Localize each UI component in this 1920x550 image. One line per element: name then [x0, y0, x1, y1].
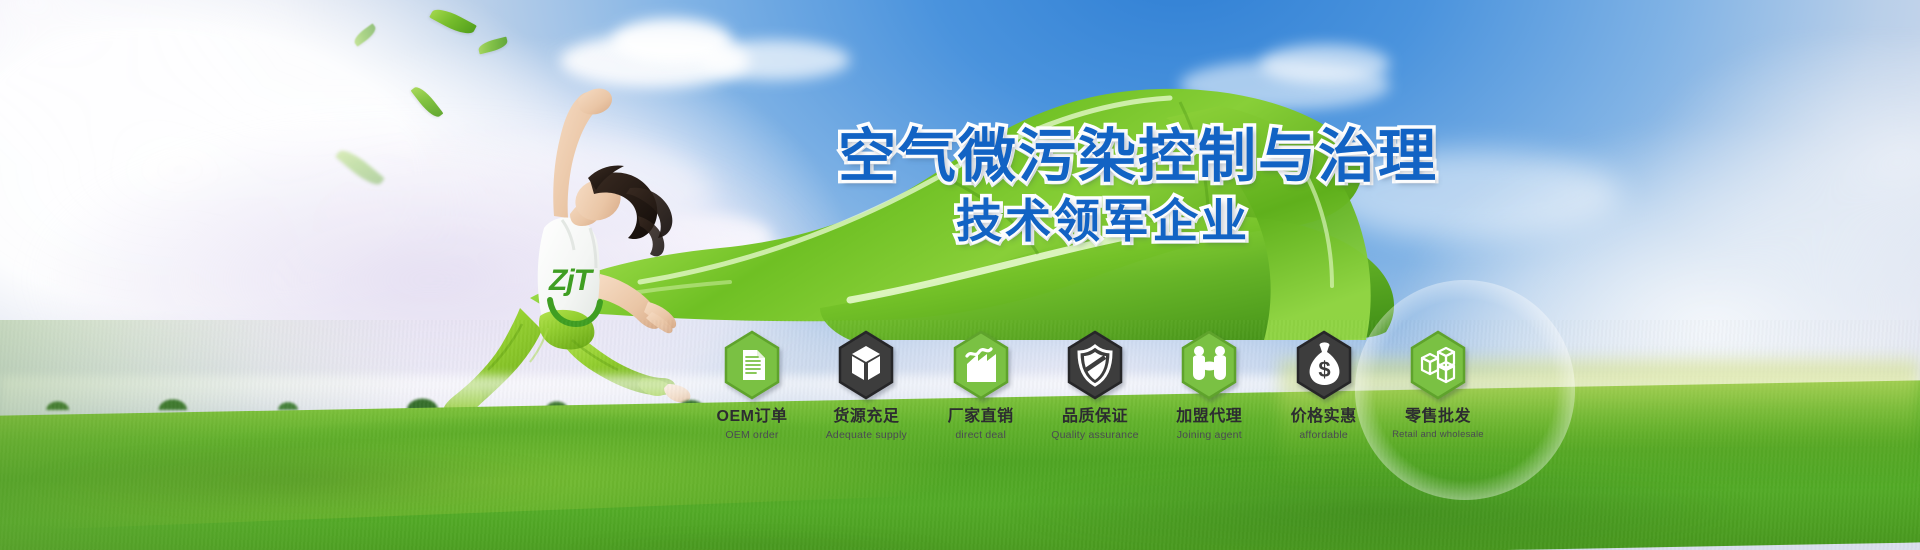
- feature-label-en: Quality assurance: [1043, 429, 1147, 441]
- feature-item-money-bag[interactable]: $价格实惠affordable: [1272, 330, 1376, 441]
- feature-label-cn: 零售批发: [1386, 408, 1490, 426]
- feature-label-cn: 货源充足: [814, 408, 918, 426]
- headline-line-2: 技术领军企业: [838, 198, 1578, 244]
- feature-label-en: Retail and wholesale: [1386, 429, 1490, 440]
- document-icon[interactable]: [721, 330, 783, 400]
- feature-label-en: Joining agent: [1157, 429, 1261, 441]
- feature-item-cube-box[interactable]: 货源充足Adequate supply: [814, 330, 918, 441]
- money-bag-icon[interactable]: $: [1293, 330, 1355, 400]
- handshake-icon[interactable]: [1178, 330, 1240, 400]
- feature-item-document[interactable]: OEM订单OEM order: [700, 330, 804, 441]
- feature-item-shield[interactable]: 品质保证Quality assurance: [1043, 330, 1147, 441]
- feature-label-en: direct deal: [929, 429, 1033, 441]
- headline-line-1: 空气微污染控制与治理: [838, 128, 1578, 186]
- feature-list: OEM订单OEM order 货源充足Adequate supply 厂家直销d…: [700, 330, 1490, 441]
- svg-text:$: $: [1318, 357, 1330, 382]
- cube-box-icon[interactable]: [835, 330, 897, 400]
- feature-label-cn: 加盟代理: [1157, 408, 1261, 426]
- headline-block: 空气微污染控制与治理 技术领军企业: [838, 128, 1578, 244]
- feature-label-en: OEM order: [700, 429, 804, 441]
- feature-label-cn: OEM订单: [700, 408, 804, 426]
- feature-item-handshake[interactable]: 加盟代理Joining agent: [1157, 330, 1261, 441]
- feature-label-en: affordable: [1272, 429, 1376, 441]
- feature-label-cn: 厂家直销: [929, 408, 1033, 426]
- feature-item-packages[interactable]: 零售批发Retail and wholesale: [1386, 330, 1490, 440]
- feature-label-en: Adequate supply: [814, 429, 918, 441]
- svg-text:ZjT: ZjT: [548, 264, 595, 297]
- packages-icon[interactable]: [1407, 330, 1469, 400]
- feature-label-cn: 品质保证: [1043, 408, 1147, 426]
- hero-banner: ZjT 空气微污染控制与治理 技术领军企业 OEM订单OEM order: [0, 0, 1920, 550]
- feature-label-cn: 价格实惠: [1272, 408, 1376, 426]
- shield-icon[interactable]: [1064, 330, 1126, 400]
- factory-icon[interactable]: [950, 330, 1012, 400]
- feature-item-factory[interactable]: 厂家直销direct deal: [929, 330, 1033, 441]
